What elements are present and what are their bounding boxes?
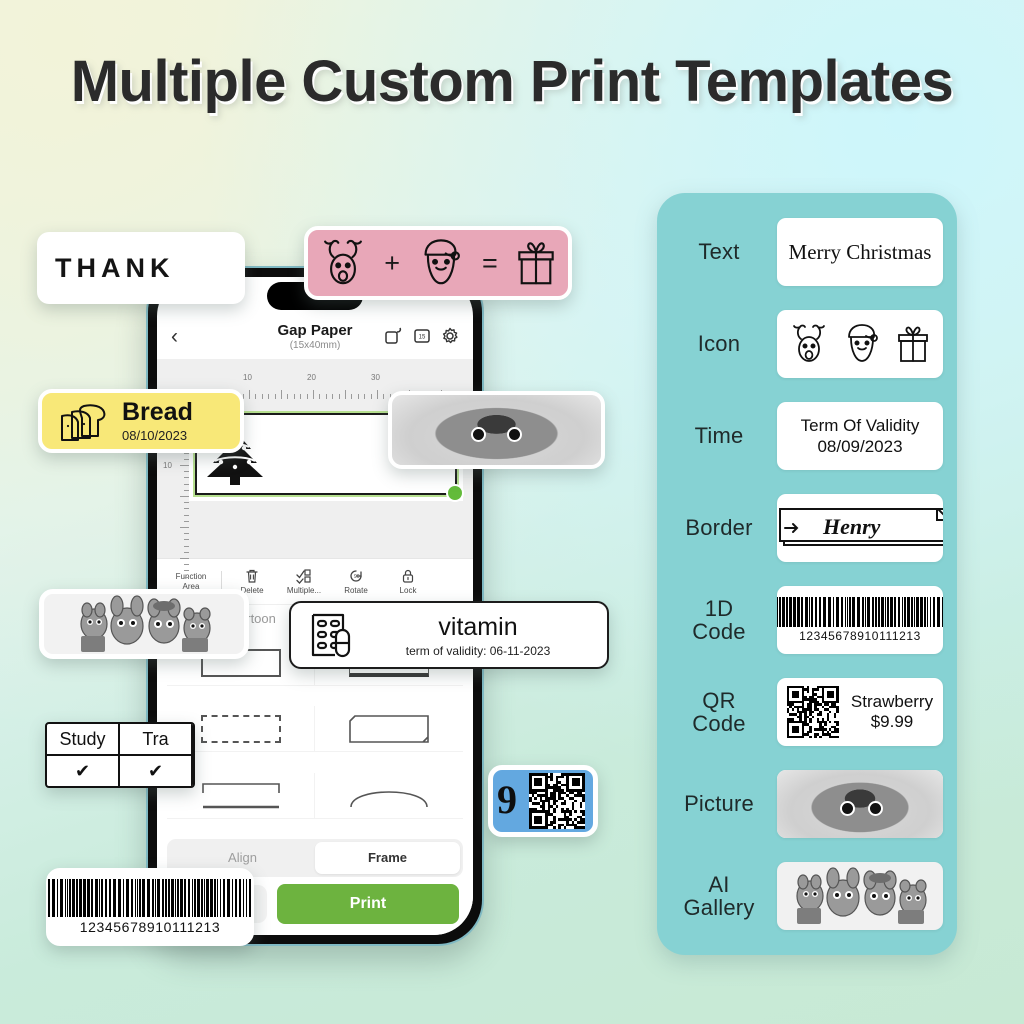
frame-arc-icon xyxy=(349,781,429,809)
template-label-1d-code: 1DCode xyxy=(671,597,767,643)
template-preview-border[interactable]: Henry xyxy=(777,494,943,562)
toolbar-rotate-button[interactable]: 90 Rotate xyxy=(330,568,382,595)
label-card-christmas-equation: + = xyxy=(304,226,572,300)
template-preview-icon[interactable] xyxy=(777,310,943,378)
vitamin-validity: term of validity: 06-11-2023 xyxy=(367,644,589,658)
gift-icon xyxy=(895,323,931,365)
qr-code-image xyxy=(529,773,585,829)
template-label-time: Time xyxy=(671,424,767,447)
template-preview-text[interactable]: Merry Christmas xyxy=(777,218,943,286)
label-card-study-table: Study Tra ✔ ✔ xyxy=(45,722,195,788)
label-card-animals xyxy=(39,589,249,659)
toolbar-multiple-button[interactable]: Multiple... xyxy=(278,568,330,595)
template-label-icon: Icon xyxy=(671,332,767,355)
pills-icon xyxy=(309,612,353,658)
merry-christmas-text: Merry Christmas xyxy=(789,240,932,265)
gear-icon[interactable] xyxy=(441,327,459,345)
template-row-1d-code[interactable]: 1DCode 12345678910111213 xyxy=(671,579,943,661)
segment-frame[interactable]: Frame xyxy=(315,842,460,874)
frame-bracket-icon xyxy=(201,781,281,809)
back-button[interactable]: ‹ xyxy=(171,326,178,347)
label-size-icon[interactable]: 15 xyxy=(413,327,431,345)
label-card-qr: 9 xyxy=(488,765,598,837)
barcode-number: 12345678910111213 xyxy=(80,919,221,935)
multi-select-icon xyxy=(296,568,312,584)
trash-icon xyxy=(244,568,260,584)
frame-option[interactable] xyxy=(315,706,463,752)
template-label-ai-gallery: AIGallery xyxy=(671,873,767,919)
template-label-text: Text xyxy=(671,240,767,263)
qr-product-name: Strawberry xyxy=(851,692,933,712)
plus-symbol: + xyxy=(384,248,400,279)
function-area-line1: Function xyxy=(176,572,207,581)
resize-handle[interactable] xyxy=(446,484,464,502)
template-row-qr-code[interactable]: QRCode Strawberry $9.99 xyxy=(671,671,943,753)
label-card-thank: THANK xyxy=(37,232,245,304)
table-cell-study: Study xyxy=(47,724,120,754)
reindeer-icon xyxy=(789,323,829,365)
table-cell-check2: ✔ xyxy=(120,756,193,786)
santa-icon xyxy=(416,238,466,288)
lock-icon xyxy=(400,568,416,584)
qr-code-image xyxy=(787,686,839,738)
toolbar-rotate-label: Rotate xyxy=(344,586,368,595)
page-title: Multiple Custom Print Templates xyxy=(0,48,1024,115)
svg-text:90: 90 xyxy=(354,574,360,580)
frame-corner-cut-icon xyxy=(349,715,429,743)
toolbar-lock-button[interactable]: Lock xyxy=(382,568,434,595)
thank-text: THANK xyxy=(55,253,175,284)
template-row-text[interactable]: Text Merry Christmas xyxy=(671,211,943,293)
bread-icon xyxy=(58,400,110,442)
bread-date: 08/10/2023 xyxy=(122,428,193,443)
cat-photo-image xyxy=(777,770,943,838)
qr-product-price: $9.99 xyxy=(851,712,933,732)
validity-date: 08/09/2023 xyxy=(801,436,920,457)
template-row-border[interactable]: Border Henry xyxy=(671,487,943,569)
label-card-barcode: 12345678910111213 xyxy=(46,868,254,946)
table-row: ✔ ✔ xyxy=(47,754,193,786)
template-preview-qr-code[interactable]: Strawberry $9.99 xyxy=(777,678,943,746)
navbar-actions: 15 xyxy=(385,327,459,345)
table-cell-travel: Tra xyxy=(120,724,193,754)
frame-option[interactable] xyxy=(315,773,463,819)
table-cell-check1: ✔ xyxy=(47,756,120,786)
santa-icon xyxy=(841,323,883,365)
template-label-border: Border xyxy=(671,516,767,539)
vitamin-title: vitamin xyxy=(367,613,589,642)
rotate-icon: 90 xyxy=(348,568,364,584)
reindeer-icon xyxy=(318,238,368,288)
template-row-picture[interactable]: Picture xyxy=(671,763,943,845)
cartoon-animals-image xyxy=(785,866,935,926)
equals-symbol: = xyxy=(482,248,498,279)
barcode-bars xyxy=(777,597,943,627)
template-row-ai-gallery[interactable]: AIGallery xyxy=(671,855,943,937)
template-row-time[interactable]: Time Term Of Validity 08/09/2023 xyxy=(671,395,943,477)
label-card-bread: Bread 08/10/2023 xyxy=(38,389,244,453)
template-label-qr-code: QRCode xyxy=(671,689,767,735)
toolbar-multiple-label: Multiple... xyxy=(287,586,321,595)
barcode-bars xyxy=(48,879,253,917)
table-row: Study Tra xyxy=(47,724,193,754)
template-label-picture: Picture xyxy=(671,792,767,815)
bread-title: Bread xyxy=(122,400,193,425)
label-card-vitamin: vitamin term of validity: 06-11-2023 xyxy=(289,601,609,669)
toolbar-lock-label: Lock xyxy=(400,586,417,595)
template-preview-ai-gallery[interactable] xyxy=(777,862,943,930)
validity-title: Term Of Validity xyxy=(801,415,920,436)
barcode-number: 12345678910111213 xyxy=(799,629,921,643)
print-button[interactable]: Print xyxy=(277,884,459,924)
function-area-label: Function Area xyxy=(165,572,217,590)
qr-card-digit: 9 xyxy=(497,776,517,823)
template-preview-picture[interactable] xyxy=(777,770,943,838)
cartoon-animals-image xyxy=(44,594,244,654)
template-types-panel: Text Merry Christmas Icon xyxy=(657,193,957,955)
cat-photo-image xyxy=(392,395,601,465)
svg-text:15: 15 xyxy=(419,335,426,341)
template-preview-1d-code[interactable]: 12345678910111213 xyxy=(777,586,943,654)
border-name-text: Henry xyxy=(823,514,880,540)
template-row-icon[interactable]: Icon xyxy=(671,303,943,385)
gift-icon xyxy=(514,238,558,288)
duplicate-icon[interactable] xyxy=(385,327,403,345)
label-card-cat-photo xyxy=(388,391,605,469)
app-navbar: ‹ Gap Paper (15x40mm) 15 xyxy=(157,313,473,359)
template-preview-time[interactable]: Term Of Validity 08/09/2023 xyxy=(777,402,943,470)
